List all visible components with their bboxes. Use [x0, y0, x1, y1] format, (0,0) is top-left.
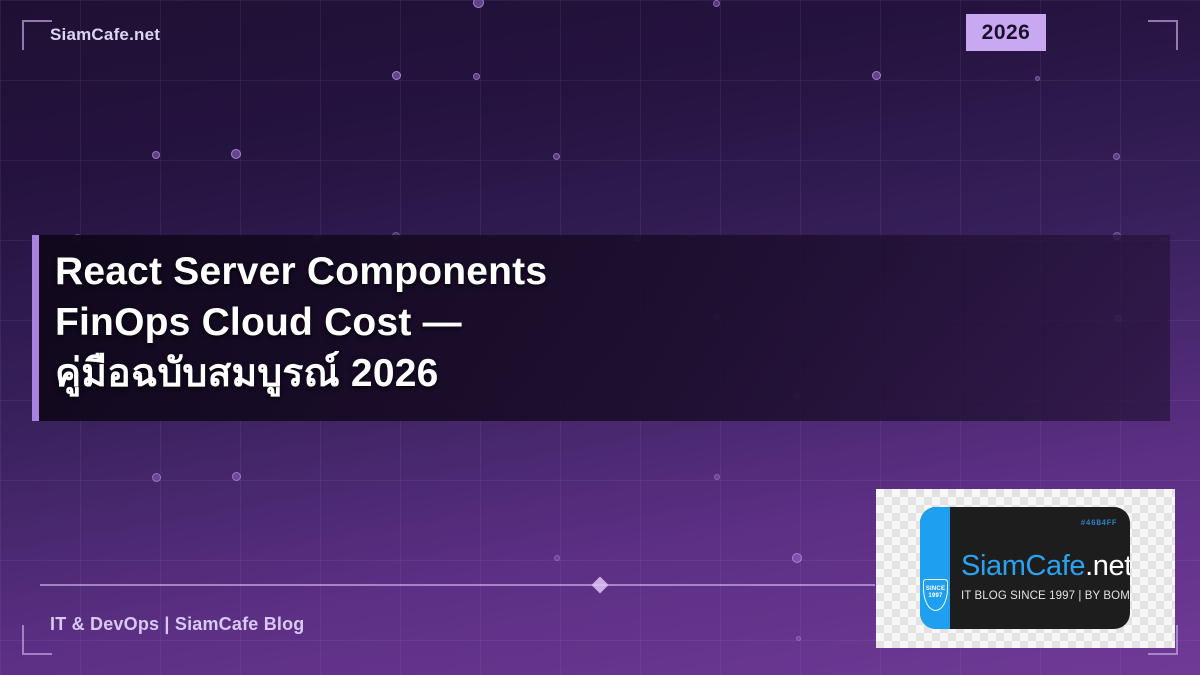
logo-wordmark-suffix: .net: [1085, 550, 1130, 582]
decorative-dot: [713, 0, 720, 7]
decorative-dot: [392, 71, 401, 80]
decorative-dot: [554, 555, 560, 561]
decorative-dot: [152, 473, 161, 482]
decorative-dot: [473, 73, 480, 80]
logo-wordmark: SiamCafe.net: [961, 550, 1130, 583]
decorative-dot: [473, 0, 484, 8]
year-badge: 2026: [966, 14, 1046, 51]
corner-bracket-top-right: [1148, 20, 1178, 50]
decorative-dot: [714, 474, 720, 480]
logo-wordmark-primary: SiamCafe: [961, 550, 1085, 582]
page-title: React Server Components FinOps Cloud Cos…: [55, 246, 1135, 399]
hero-banner: SiamCafe.net 2026 React Server Component…: [0, 0, 1200, 675]
decorative-dot: [152, 151, 160, 159]
decorative-dot: [553, 153, 560, 160]
footer-divider: [40, 584, 875, 586]
siamcafe-logo-card: SINCE 1997 #46B4FF SiamCafe.net IT BLOG …: [920, 507, 1130, 629]
logo-hex-color-label: #46B4FF: [1081, 519, 1117, 528]
logo-image-frame: SINCE 1997 #46B4FF SiamCafe.net IT BLOG …: [876, 489, 1175, 648]
decorative-dot: [796, 636, 801, 641]
decorative-dot: [1113, 153, 1120, 160]
title-accent-bar: [32, 235, 39, 421]
decorative-dot: [872, 71, 881, 80]
brand-label: SiamCafe.net: [50, 25, 160, 45]
decorative-dot: [1035, 76, 1040, 81]
decorative-dot: [232, 472, 241, 481]
corner-bracket-bottom-left: [22, 625, 52, 655]
logo-tagline: IT BLOG SINCE 1997 | BY BOM: [961, 590, 1130, 602]
footer-caption: IT & DevOps | SiamCafe Blog: [50, 614, 305, 635]
since-badge-line1: SINCE: [924, 586, 947, 593]
since-badge-line2: 1997: [924, 593, 947, 600]
decorative-dot: [231, 149, 241, 159]
decorative-dot: [792, 553, 802, 563]
corner-bracket-top-left: [22, 20, 52, 50]
